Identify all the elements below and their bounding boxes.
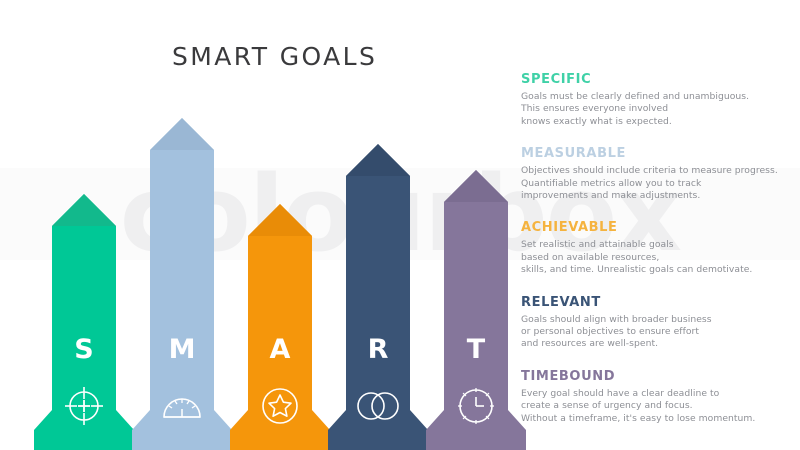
arrow-shape-specific — [30, 188, 138, 450]
detail-heading-specific: SPECIFIC — [521, 72, 793, 87]
detail-body-measurable: Objectives should include criteria to me… — [521, 165, 793, 202]
detail-body-specific: Goals must be clearly defined and unambi… — [521, 91, 793, 128]
detail-block-relevant: RELEVANT Goals should align with broader… — [521, 295, 793, 351]
arrow-column-timebound[interactable]: T — [422, 164, 530, 450]
detail-block-measurable: MEASURABLE Objectives should include cri… — [521, 146, 793, 202]
arrow-column-specific[interactable]: S — [30, 188, 138, 450]
arrow-shape-measurable — [128, 112, 236, 450]
detail-block-timebound: TIMEBOUND Every goal should have a clear… — [521, 369, 793, 425]
arrow-column-relevant[interactable]: R — [324, 138, 432, 450]
detail-body-achievable: Set realistic and attainable goals based… — [521, 239, 793, 276]
detail-heading-measurable: MEASURABLE — [521, 146, 793, 161]
arrow-column-achievable[interactable]: A — [226, 198, 334, 450]
detail-heading-achievable: ACHIEVABLE — [521, 220, 793, 235]
arrow-shape-achievable — [226, 198, 334, 450]
arrow-shape-relevant — [324, 138, 432, 450]
detail-heading-timebound: TIMEBOUND — [521, 369, 793, 384]
infographic-canvas: colourbox SMART GOALS S — [0, 0, 800, 450]
arrow-shape-timebound — [422, 164, 530, 450]
detail-body-timebound: Every goal should have a clear deadline … — [521, 388, 793, 425]
page-title: SMART GOALS — [172, 42, 377, 71]
smart-details-panel: SPECIFIC Goals must be clearly defined a… — [521, 72, 793, 425]
detail-block-achievable: ACHIEVABLE Set realistic and attainable … — [521, 220, 793, 276]
detail-heading-relevant: RELEVANT — [521, 295, 793, 310]
detail-body-relevant: Goals should align with broader business… — [521, 314, 793, 351]
detail-block-specific: SPECIFIC Goals must be clearly defined a… — [521, 72, 793, 128]
arrow-column-measurable[interactable]: M — [128, 112, 236, 450]
